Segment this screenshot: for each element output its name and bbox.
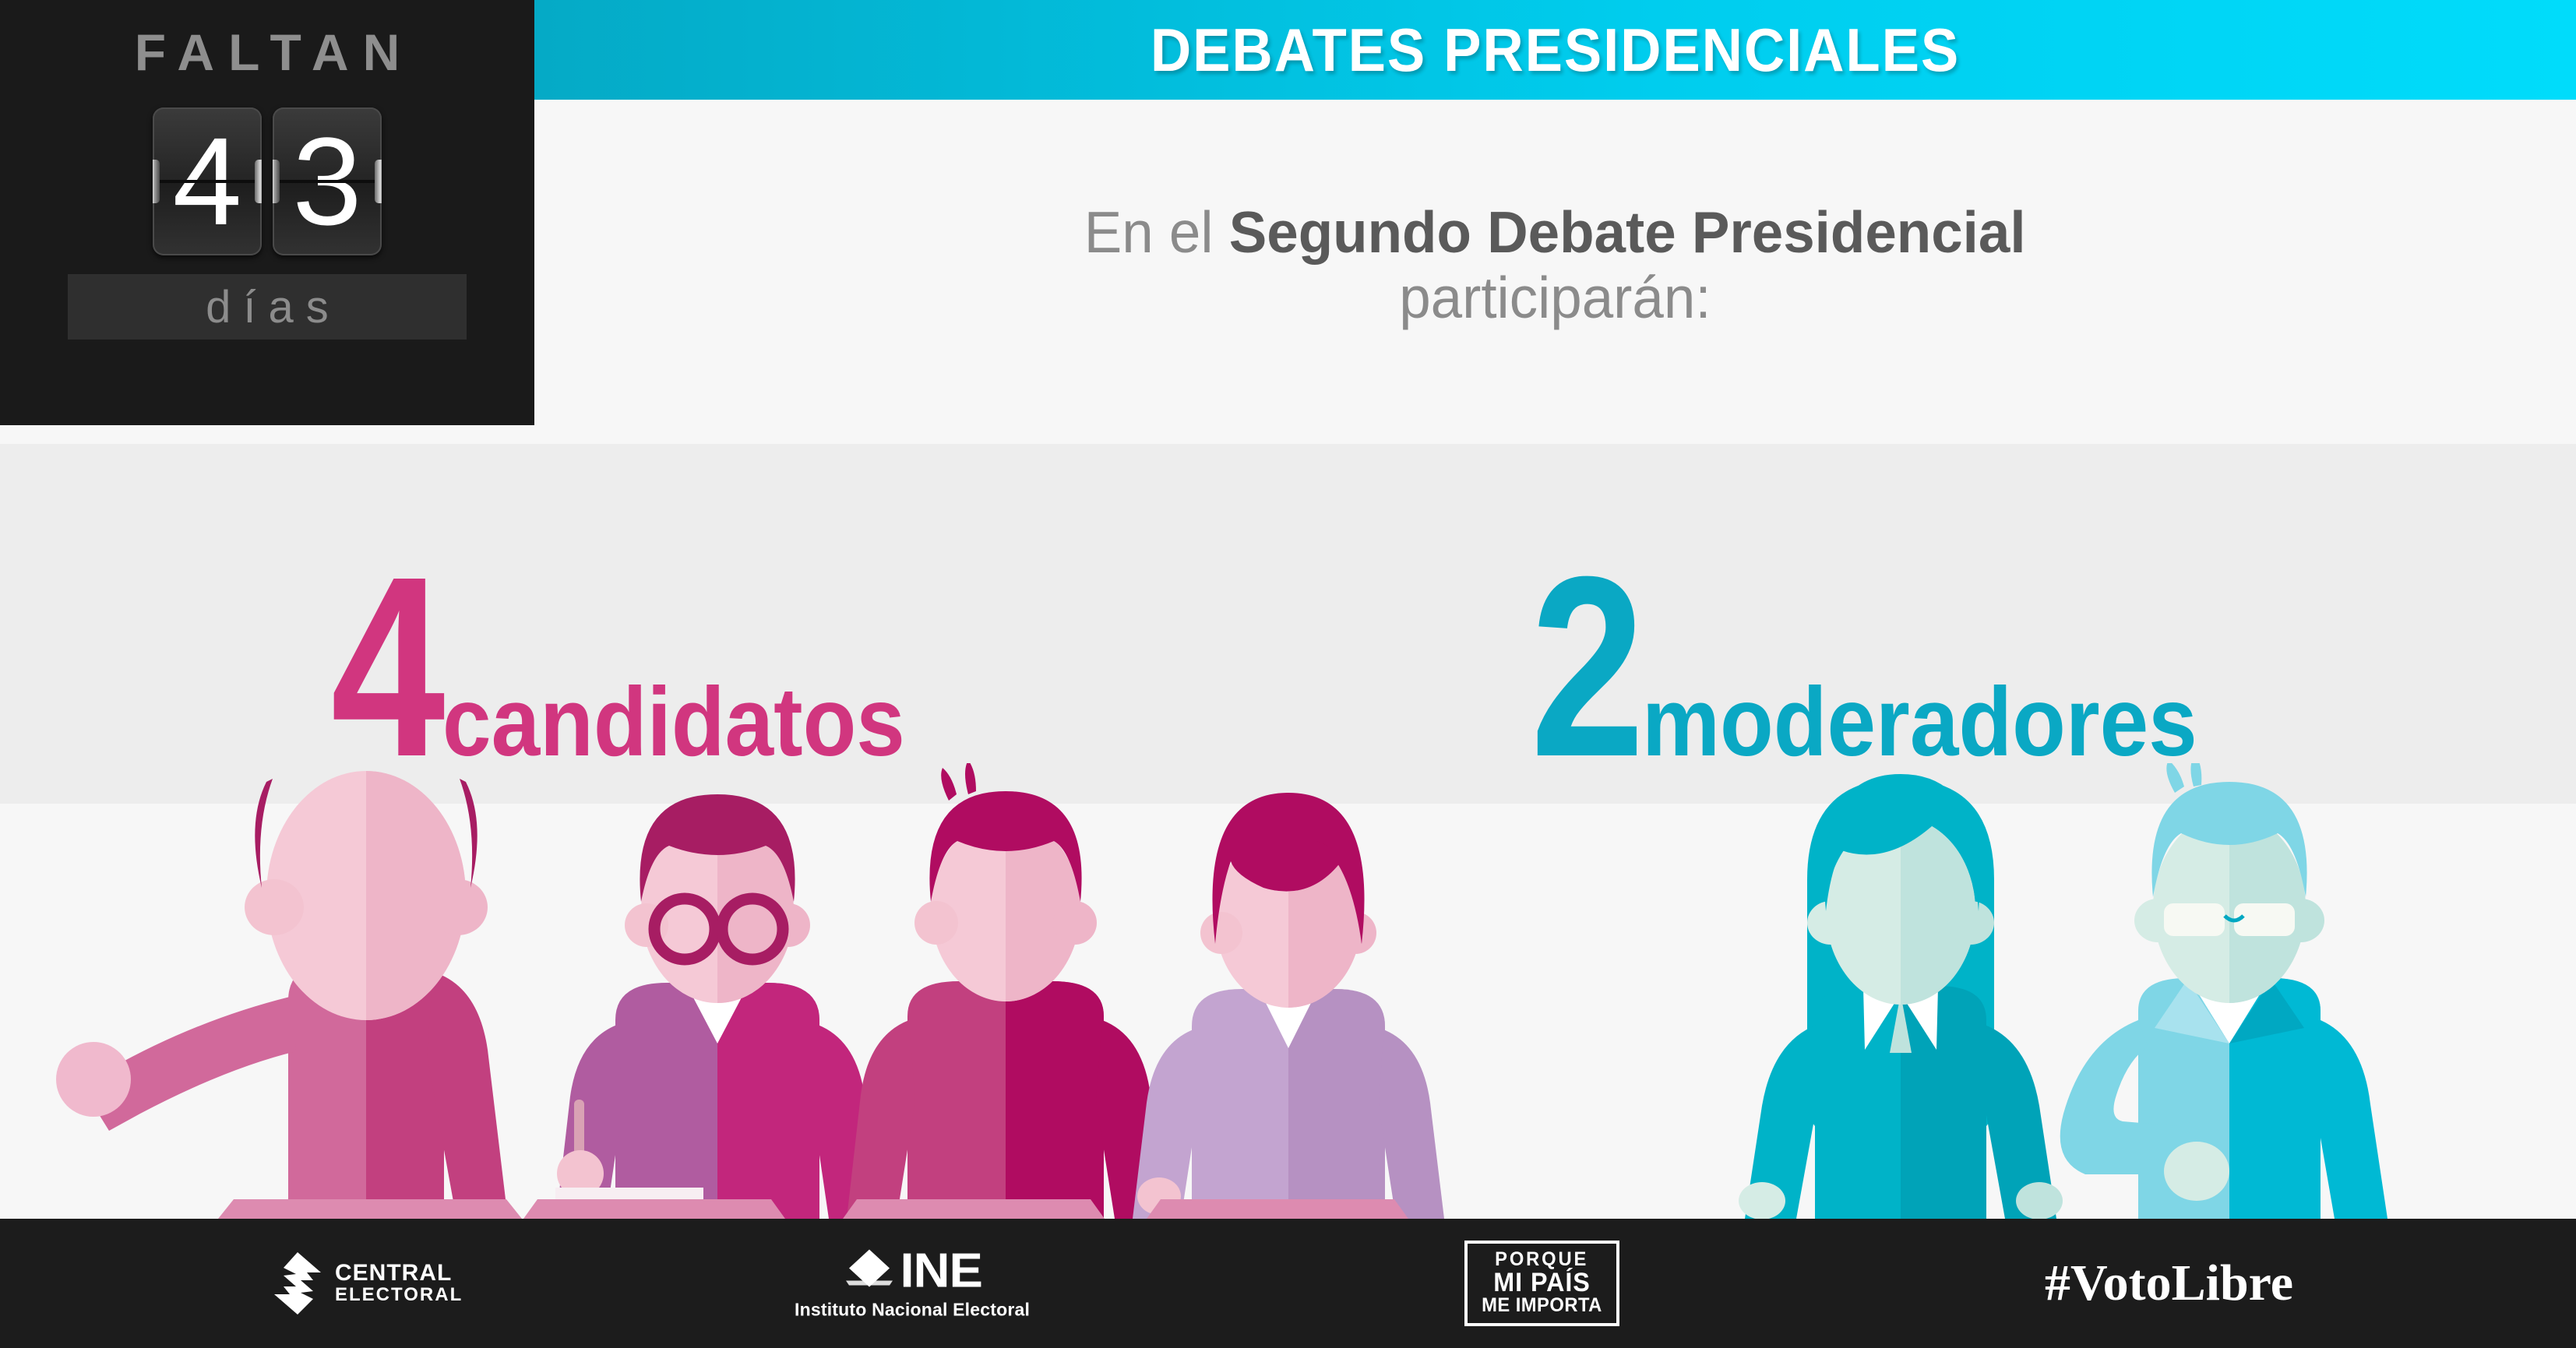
stat-moderadores: 2 moderadores	[1503, 569, 2258, 771]
countdown-label: FALTAN	[0, 26, 534, 78]
countdown-unit-plate: días	[68, 274, 467, 340]
ine-logo[interactable]: INE Instituto Nacional Electoral	[795, 1247, 1030, 1321]
central-line-1: CENTRAL	[335, 1262, 463, 1286]
flip-peg-right-icon	[375, 160, 382, 203]
hashtag-votolibre[interactable]: #VotoLibre	[2045, 1254, 2293, 1313]
stat-candidatos: 4 candidatos	[304, 569, 956, 771]
subtitle-line-1: En el Segundo Debate Presidencial	[1084, 199, 2026, 265]
flip-peg-left-icon	[153, 160, 160, 203]
candidate-2	[523, 794, 879, 1219]
countdown-unit-label: días	[193, 281, 341, 333]
ine-diamond-icon	[844, 1247, 894, 1297]
candidate-1	[56, 771, 522, 1219]
subtitle-light-text: En el	[1084, 199, 1229, 265]
stat-candidatos-number: 4	[331, 569, 439, 765]
flip-peg-right-icon	[255, 160, 262, 203]
flip-digit-ones: 3	[273, 107, 382, 255]
moderator-1	[1739, 774, 2063, 1219]
candidate-4	[1133, 793, 1444, 1219]
subtitle-line-2: participarán:	[1399, 265, 1711, 330]
footer-bar: CENTRAL ELECTORAL INE Instituto Nacional…	[0, 1219, 2576, 1348]
ine-logo-row: INE	[844, 1247, 980, 1297]
central-electoral-text: CENTRAL ELECTORAL	[335, 1262, 463, 1304]
porque-line-3: ME IMPORTA	[1482, 1296, 1602, 1315]
stats-row: 4 candidatos 2 moderadores	[0, 444, 2576, 804]
ine-acronym: INE	[900, 1248, 981, 1296]
flip-peg-left-icon	[273, 160, 280, 203]
flip-hinge-icon	[273, 180, 382, 183]
flip-digit-tens: 4	[153, 107, 262, 255]
central-electoral-logo[interactable]: CENTRAL ELECTORAL	[273, 1252, 463, 1315]
stat-moderadores-number: 2	[1531, 569, 1639, 765]
stat-candidatos-label: candidatos	[442, 674, 905, 771]
ine-subtitle: Instituto Nacional Electoral	[795, 1300, 1030, 1321]
flip-clock: 4 3	[0, 107, 534, 255]
stat-moderadores-label: moderadores	[1642, 674, 2197, 771]
characters-illustration	[0, 763, 2576, 1219]
porque-line-2: MI PAÍS	[1493, 1269, 1590, 1296]
countdown-panel: FALTAN 4 3 días	[0, 0, 534, 425]
central-line-2: ELECTORAL	[335, 1286, 463, 1304]
central-electoral-mark-icon	[273, 1252, 322, 1315]
subtitle-block: En el Segundo Debate Presidencial partic…	[534, 100, 2576, 425]
moderator-2	[2060, 763, 2387, 1219]
candidate-3	[843, 763, 1165, 1219]
subtitle-strong-text: Segundo Debate Presidencial	[1229, 199, 2026, 265]
subtitle-band	[0, 425, 2576, 444]
illustration-stage	[0, 763, 2576, 1219]
porque-mi-pais-logo[interactable]: PORQUE MI PAÍS ME IMPORTA	[1464, 1241, 1619, 1326]
infographic-poster: FALTAN 4 3 días DEBATES PRESIDENCIALES E…	[0, 0, 2576, 1348]
porque-box: PORQUE MI PAÍS ME IMPORTA	[1464, 1241, 1619, 1326]
porque-line-1: PORQUE	[1495, 1250, 1588, 1269]
header-banner: DEBATES PRESIDENCIALES	[534, 0, 2576, 100]
flip-hinge-icon	[153, 180, 262, 183]
header-title: DEBATES PRESIDENCIALES	[606, 0, 2505, 100]
